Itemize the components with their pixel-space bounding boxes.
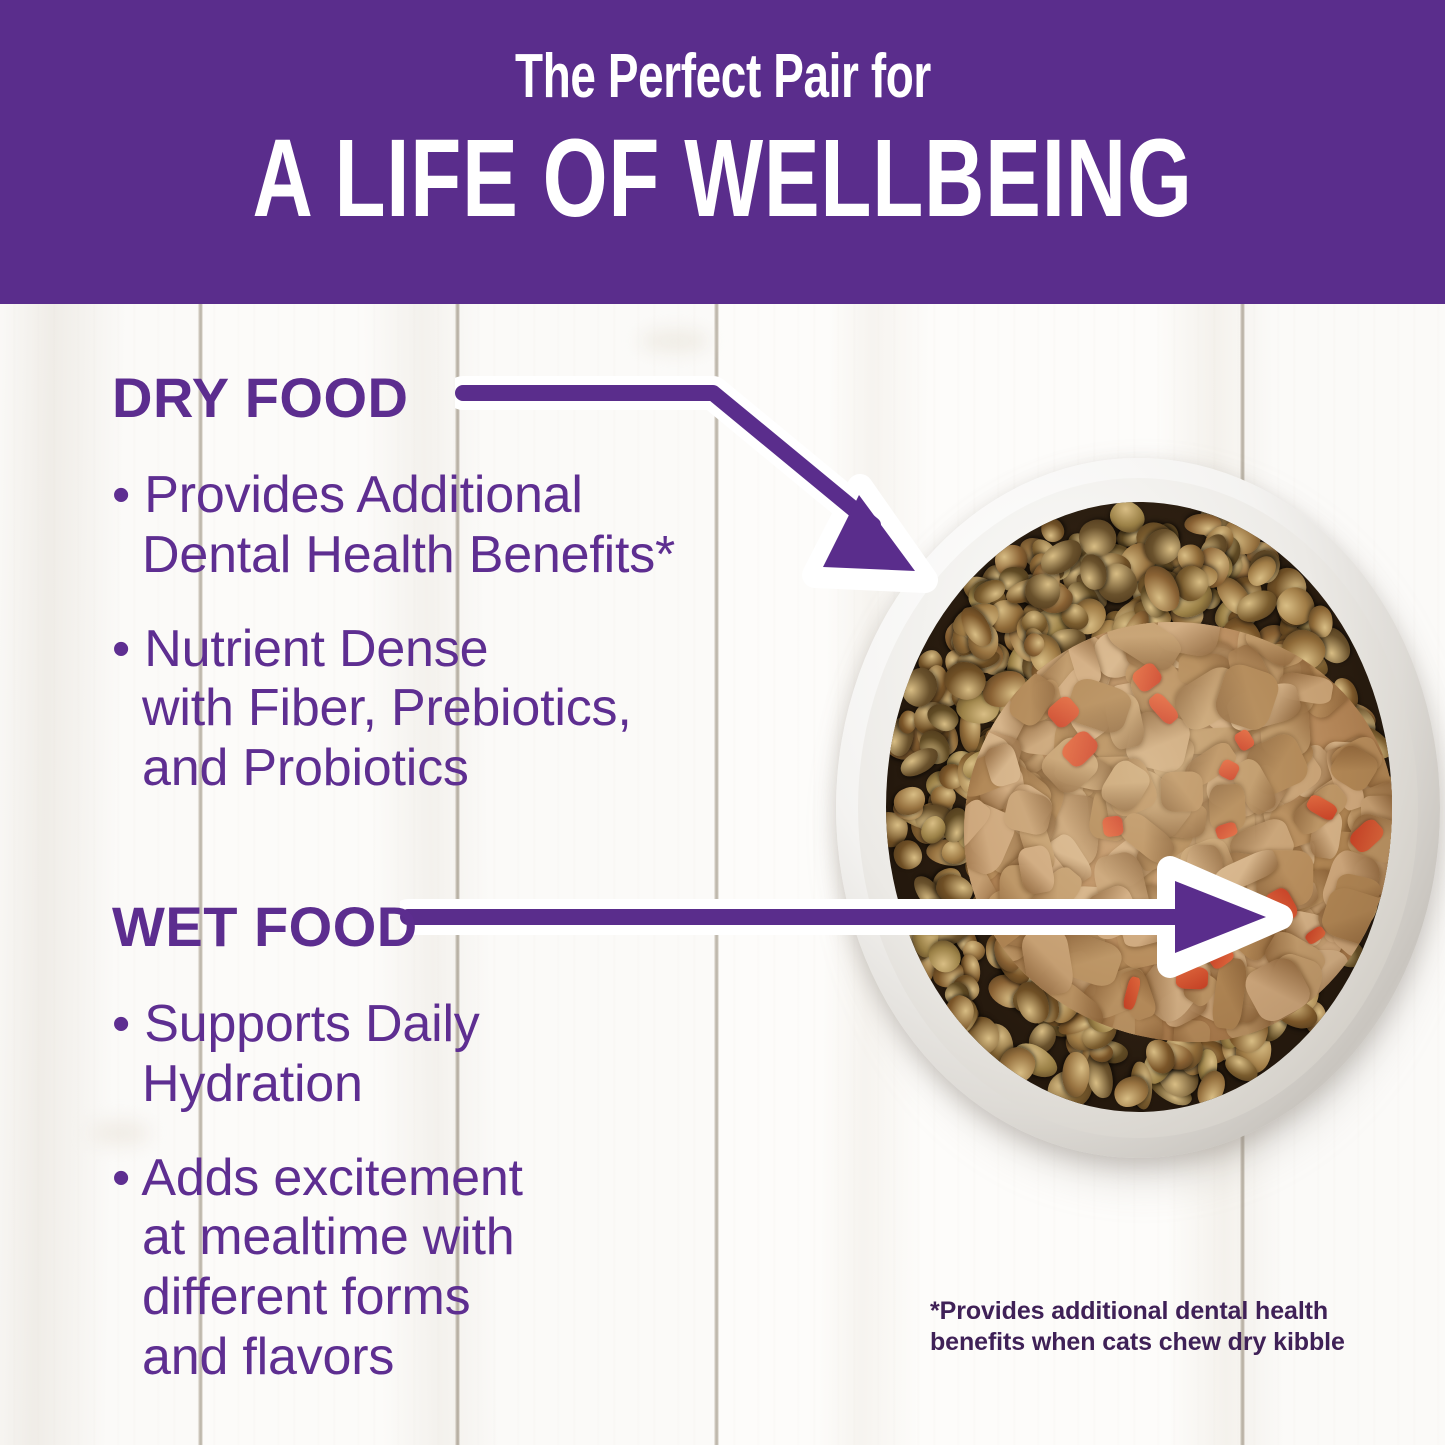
header-banner: The Perfect Pair for A LIFE OF WELLBEING <box>0 0 1445 304</box>
bullet-line: • Nutrient Dense <box>112 620 488 678</box>
tomato-bit <box>1102 815 1125 838</box>
ad-canvas: The Perfect Pair for A LIFE OF WELLBEING… <box>0 0 1445 1445</box>
bullet-line: Dental Health Benefits* <box>142 526 675 584</box>
bullet-line: • Provides Additional <box>112 466 583 524</box>
bullet-line: at mealtime with <box>142 1208 514 1266</box>
section-title-wet-food: WET FOOD <box>112 899 812 955</box>
tomato-bit <box>1176 966 1208 990</box>
wet-food-gravy-layer <box>964 622 1392 1042</box>
header-subtitle: The Perfect Pair for <box>515 46 931 108</box>
bullet-line: Hydration <box>142 1055 363 1113</box>
benefits-copy-column: DRY FOOD • Provides Additional Dental He… <box>112 370 812 1422</box>
bullet-line: • Adds excitement <box>112 1149 523 1207</box>
footnote-disclaimer: *Provides additional dental health benef… <box>930 1296 1370 1358</box>
section-title-dry-food: DRY FOOD <box>112 370 812 426</box>
wood-blotch <box>640 330 710 352</box>
bullet-dry-1: • Provides Additional Dental Health Bene… <box>112 466 812 586</box>
section-spacer <box>112 833 812 899</box>
header-title: A LIFE OF WELLBEING <box>252 124 1192 234</box>
bullet-line: and flavors <box>142 1328 394 1386</box>
bullet-dry-2: • Nutrient Dense with Fiber, Prebiotics,… <box>112 620 812 799</box>
bowl-interior <box>886 502 1392 1112</box>
bullet-line: different forms <box>142 1268 470 1326</box>
bullet-line: and Probiotics <box>142 739 469 797</box>
bullet-wet-2: • Adds excitement at mealtime with diffe… <box>112 1149 812 1388</box>
wet-food-chunk <box>1161 771 1203 812</box>
bullet-line: • Supports Daily <box>112 995 480 1053</box>
cat-food-bowl-photo <box>836 438 1445 1238</box>
footnote-line-2: benefits when cats chew dry kibble <box>930 1327 1370 1358</box>
footnote-line-1: *Provides additional dental health <box>930 1296 1370 1327</box>
bullet-line: with Fiber, Prebiotics, <box>142 679 632 737</box>
bullet-wet-1: • Supports Daily Hydration <box>112 995 812 1115</box>
